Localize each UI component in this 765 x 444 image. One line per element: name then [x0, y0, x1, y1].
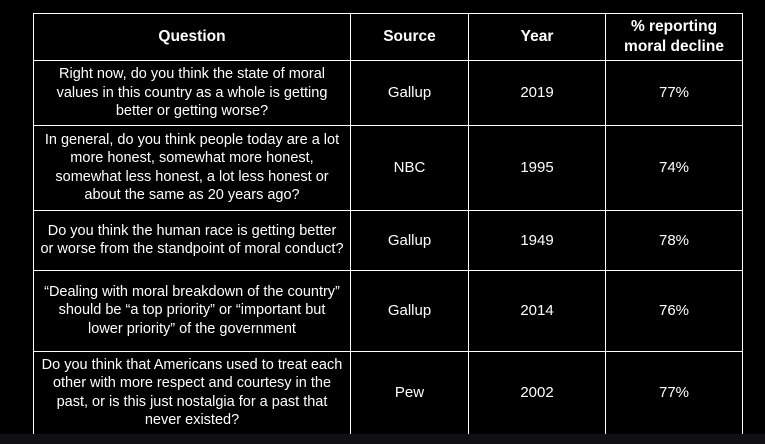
cell-source: Pew — [351, 351, 469, 434]
cell-question: Right now, do you think the state of mor… — [34, 61, 351, 126]
cell-question: Do you think the human race is getting b… — [34, 210, 351, 270]
table-row: In general, do you think people today ar… — [34, 125, 743, 210]
cell-year: 1949 — [469, 210, 606, 270]
cell-source: NBC — [351, 125, 469, 210]
poll-results-table: Question Source Year % reporting moral d… — [33, 13, 743, 435]
cell-source: Gallup — [351, 210, 469, 270]
table-row: Right now, do you think the state of mor… — [34, 61, 743, 126]
table-row: “Dealing with moral breakdown of the cou… — [34, 270, 743, 351]
column-header-year: Year — [469, 14, 606, 61]
column-header-percent-line-2: moral decline — [624, 38, 724, 55]
column-header-percent-reporting-moral-decline: % reporting moral decline — [606, 14, 743, 61]
cell-percent: 77% — [606, 351, 743, 434]
cell-question: In general, do you think people today ar… — [34, 125, 351, 210]
table-row: Do you think that Americans used to trea… — [34, 351, 743, 434]
cell-percent: 77% — [606, 61, 743, 126]
cell-year: 2014 — [469, 270, 606, 351]
table-row: Do you think the human race is getting b… — [34, 210, 743, 270]
cell-percent: 76% — [606, 270, 743, 351]
cell-percent: 74% — [606, 125, 743, 210]
screen-background: Question Source Year % reporting moral d… — [0, 0, 765, 444]
cell-year: 1995 — [469, 125, 606, 210]
table-header-row: Question Source Year % reporting moral d… — [34, 14, 743, 61]
cell-source: Gallup — [351, 270, 469, 351]
cell-source: Gallup — [351, 61, 469, 126]
cell-year: 2019 — [469, 61, 606, 126]
bottom-edge-strip — [0, 434, 765, 444]
cell-percent: 78% — [606, 210, 743, 270]
column-header-percent-line-1: % reporting — [631, 18, 717, 35]
cell-question: “Dealing with moral breakdown of the cou… — [34, 270, 351, 351]
cell-question: Do you think that Americans used to trea… — [34, 351, 351, 434]
column-header-source: Source — [351, 14, 469, 61]
cell-year: 2002 — [469, 351, 606, 434]
table-body: Right now, do you think the state of mor… — [34, 61, 743, 435]
table-header: Question Source Year % reporting moral d… — [34, 14, 743, 61]
column-header-question: Question — [34, 14, 351, 61]
